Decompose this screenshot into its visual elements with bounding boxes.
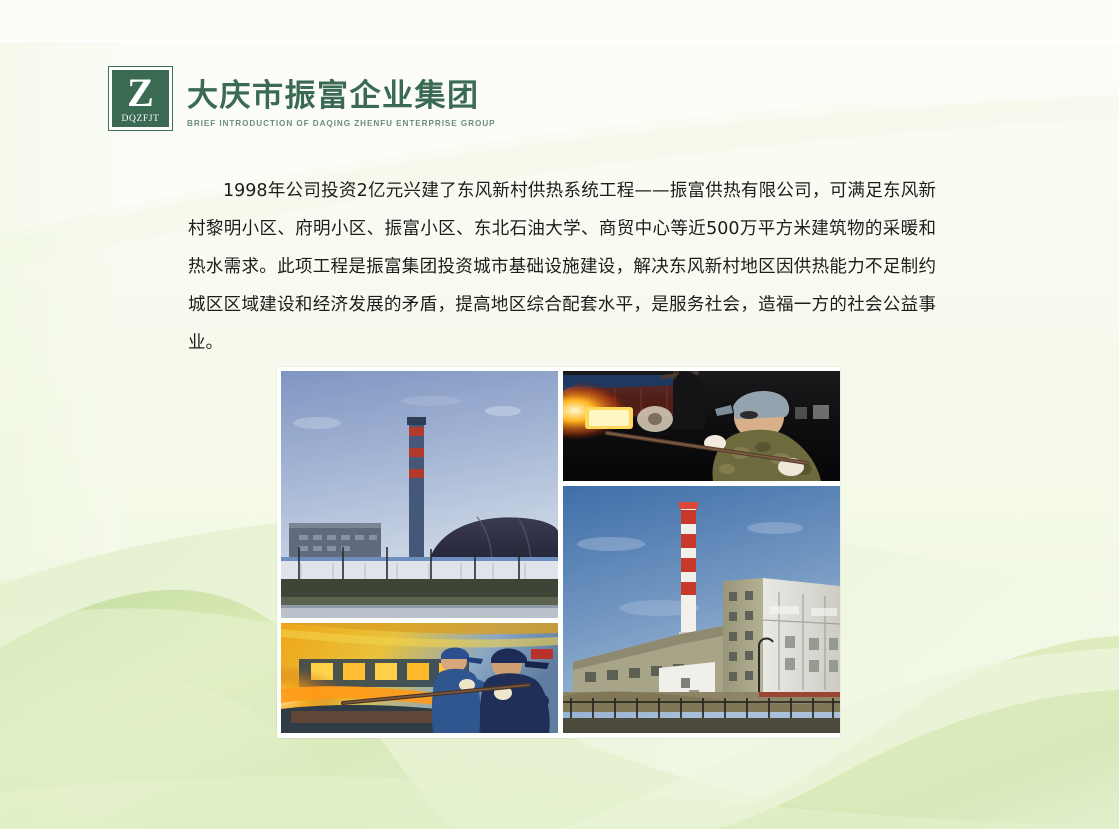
page-root: Z DQZFJT 大庆市振富企业集团 BRIEF INTRODUCTION OF… (0, 0, 1119, 829)
logo-abbreviation: DQZFJT (122, 114, 160, 124)
article-body: 1998年公司投资2亿元兴建了东风新村供热系统工程——振富供热有限公司，可满足东… (188, 172, 936, 362)
company-name-cn: 大庆市振富企业集团 (187, 78, 495, 114)
photo-heating-plant-building-art (563, 486, 840, 733)
article-paragraph: 1998年公司投资2亿元兴建了东风新村供热系统工程——振富供热有限公司，可满足东… (188, 172, 936, 362)
photo-furnace-worker-night-art (563, 371, 840, 481)
photo-plant-exterior-chimney (281, 371, 558, 618)
brand-text-block: 大庆市振富企业集团 BRIEF INTRODUCTION OF DAQING Z… (187, 66, 495, 128)
company-logo: Z DQZFJT (108, 66, 173, 131)
photo-furnace-worker-night (563, 371, 840, 481)
photo-heating-plant-building (563, 486, 840, 733)
photo-plant-exterior-chimney-art (281, 371, 558, 618)
photo-collage (277, 367, 840, 738)
logo-badge: Z DQZFJT (112, 70, 169, 127)
brand-header: Z DQZFJT 大庆市振富企业集团 BRIEF INTRODUCTION OF… (108, 66, 495, 131)
logo-letter-z: Z (127, 73, 154, 113)
photo-two-workers-furnace-art (281, 623, 558, 733)
company-name-en: BRIEF INTRODUCTION OF DAQING ZHENFU ENTE… (187, 119, 495, 128)
photo-two-workers-furnace (281, 623, 558, 733)
